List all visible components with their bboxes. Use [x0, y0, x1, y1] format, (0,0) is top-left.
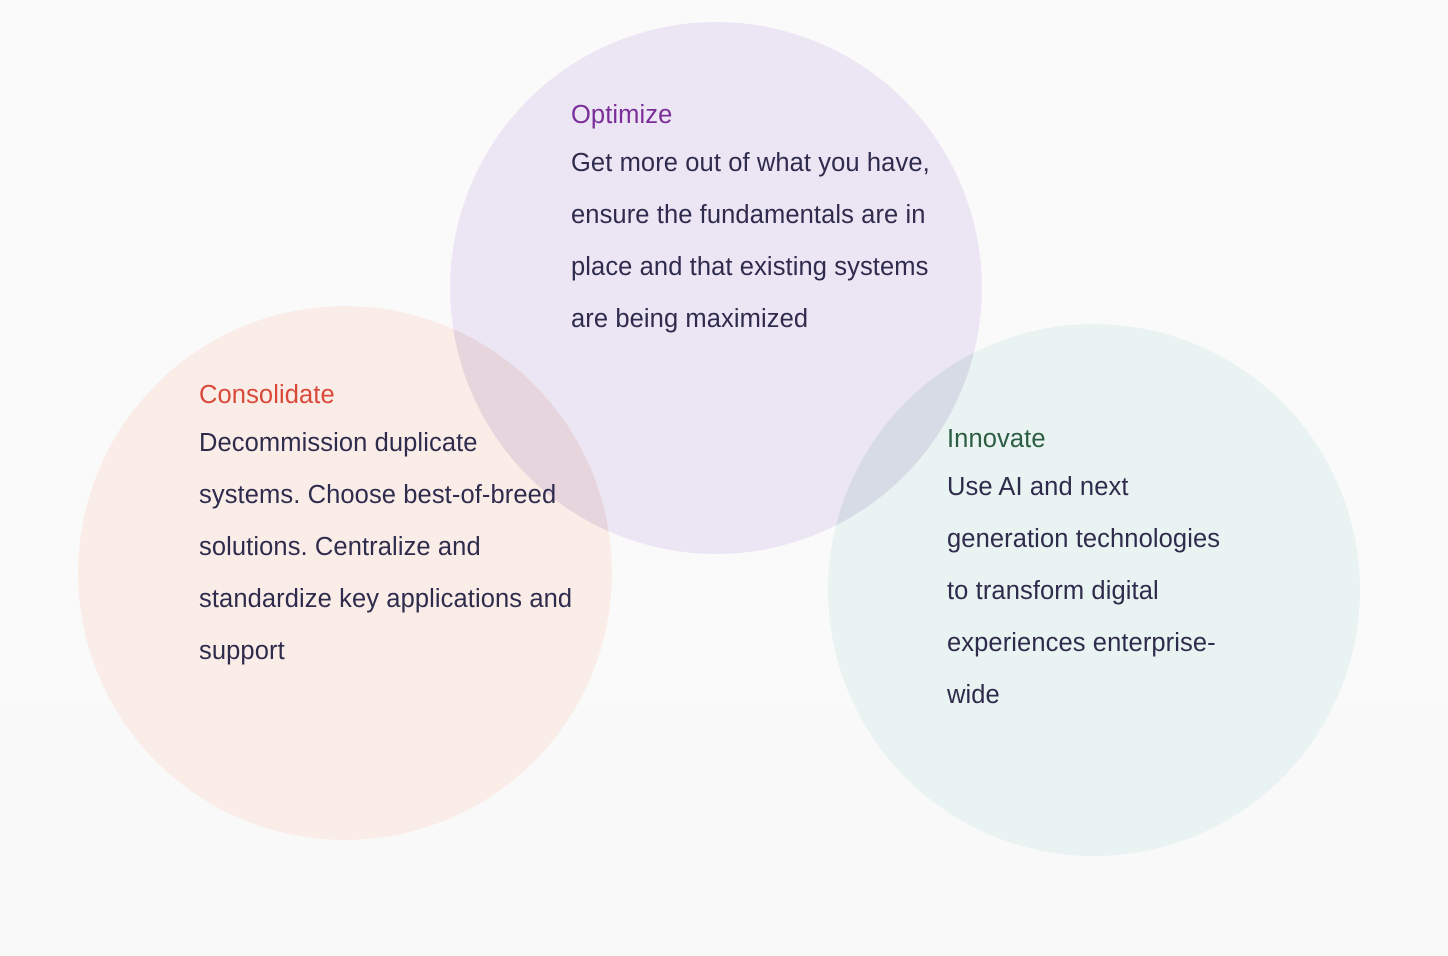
venn-body-innovate: Use AI and next generation technologies … [947, 461, 1237, 721]
venn-label-consolidate: Consolidate Decommission duplicate syste… [199, 373, 579, 677]
venn-label-optimize: Optimize Get more out of what you have, … [571, 93, 971, 345]
venn-label-innovate: Innovate Use AI and next generation tech… [947, 417, 1237, 721]
venn-heading-optimize: Optimize [571, 93, 971, 137]
venn-heading-consolidate: Consolidate [199, 373, 579, 417]
venn-body-optimize: Get more out of what you have, ensure th… [571, 137, 971, 345]
diagram-canvas: Consolidate Decommission duplicate syste… [0, 0, 1448, 956]
venn-heading-innovate: Innovate [947, 417, 1237, 461]
venn-body-consolidate: Decommission duplicate systems. Choose b… [199, 417, 579, 677]
